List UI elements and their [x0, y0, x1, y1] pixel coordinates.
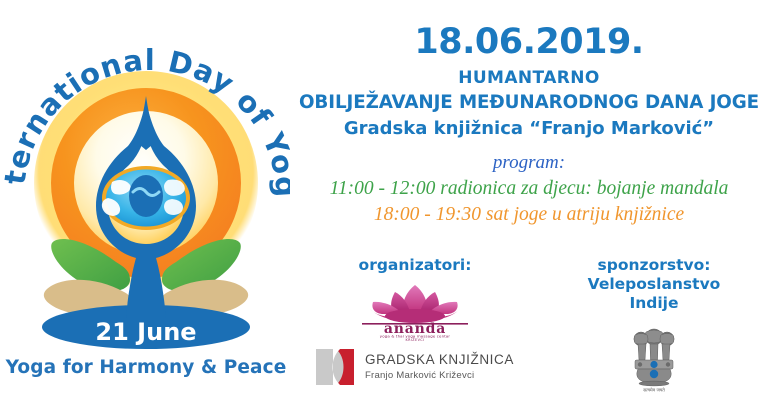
lotus-icon [370, 285, 460, 323]
yoga-logo: International Day of Yoga 21 June Yoga f… [0, 0, 290, 402]
event-title: OBILJEŽAVANJE MEĐUNARODNOG DANA JOGE [290, 92, 768, 113]
organizers-column: organizatori: [300, 256, 530, 387]
organizers-heading: organizatori: [300, 256, 530, 275]
program-label: program: [290, 152, 768, 174]
library-name: GRADSKA KNJIŽNICA [365, 352, 514, 367]
program-item-1: 11:00 - 12:00 radionica za djecu: bojanj… [290, 178, 768, 200]
logo-tagline: Yoga for Harmony & Peace [5, 357, 287, 378]
yoga-logo-graphic: International Day of Yoga 21 June Yoga f… [0, 0, 290, 402]
sponsorship-line1: Veleposlanstvo [540, 275, 768, 294]
globe [102, 166, 190, 230]
ananda-city: KRIŽEVCI [406, 337, 425, 341]
content-area: 18.06.2019. HUMANTARNO OBILJEŽAVANJE MEĐ… [290, 0, 768, 402]
event-venue: Gradska knjižnica “Franjo Marković” [290, 118, 768, 139]
event-date: 18.06.2019. [290, 22, 768, 62]
emblem-motto: सत्यमेव जयते [643, 388, 665, 394]
library-mark-icon [316, 347, 356, 387]
event-subtitle: HUMANTARNO [290, 68, 768, 88]
sponsorship-heading: sponzorstvo: [540, 256, 768, 275]
state-emblem-of-india-icon: सत्यमेव जयते [629, 326, 679, 394]
library-text: GRADSKA KNJIŽNICA Franjo Marković Križev… [365, 352, 514, 382]
sponsorship-column: sponzorstvo: Veleposlanstvo Indije [540, 256, 768, 394]
library-subtitle: Franjo Marković Križevci [365, 369, 514, 382]
sponsorship-line2: Indije [540, 294, 768, 313]
ananda-logo-graphic: ananda yoga & thai yoga massage centar K… [340, 279, 490, 341]
ananda-logo: ananda yoga & thai yoga massage centar K… [300, 279, 530, 341]
ashoka-chakra-icon [650, 361, 657, 368]
library-logo: GRADSKA KNJIŽNICA Franjo Marković Križev… [300, 347, 530, 387]
logo-date-badge: 21 June [95, 318, 196, 346]
india-emblem: सत्यमेव जयते [540, 326, 768, 394]
program-item-2: 18:00 - 19:30 sat joge u atriju knjižnic… [290, 204, 768, 226]
poster-root: International Day of Yoga 21 June Yoga f… [0, 0, 768, 402]
